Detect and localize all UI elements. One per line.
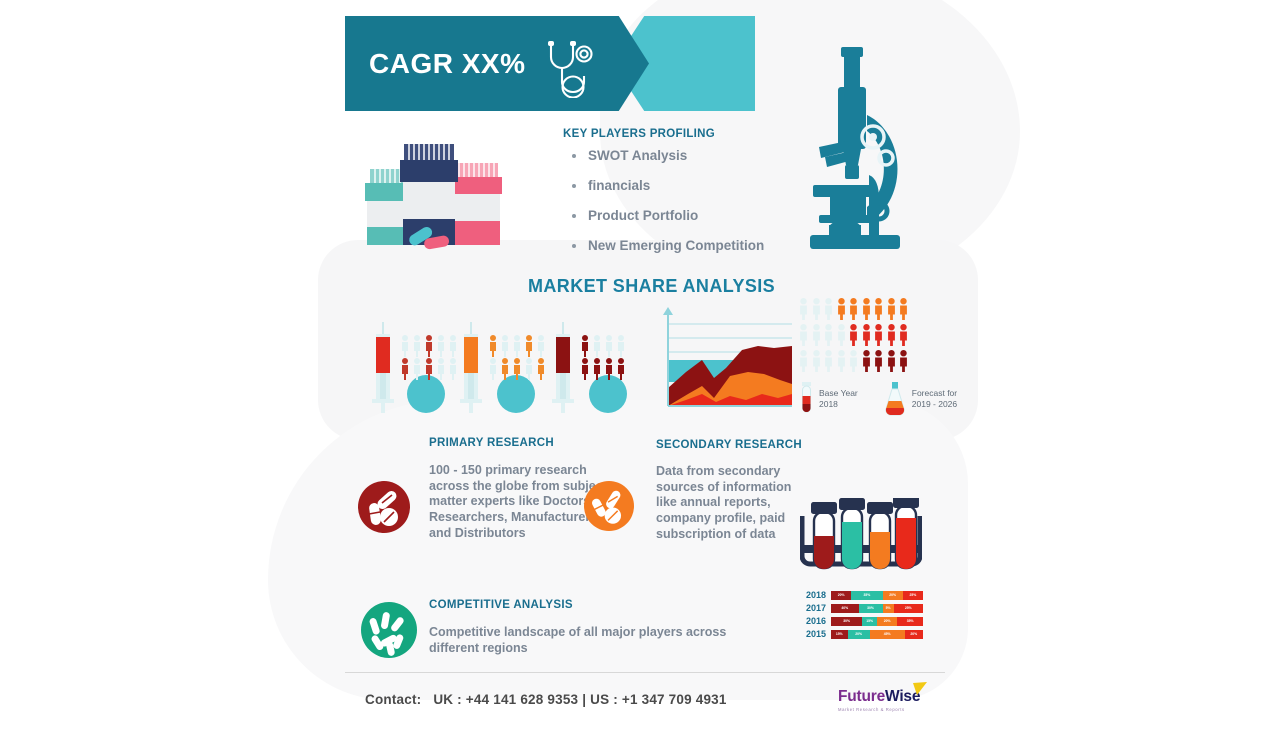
test-tube bbox=[893, 498, 919, 569]
person-icon bbox=[848, 324, 859, 346]
person-icon bbox=[798, 298, 809, 320]
person-icon bbox=[886, 298, 897, 320]
stacked-bar: 30% 15% 20% 35% bbox=[831, 617, 923, 626]
footer-divider bbox=[345, 672, 945, 673]
year-label: 2018 bbox=[800, 590, 826, 600]
primary-research-title: PRIMARY RESEARCH bbox=[429, 437, 609, 449]
secondary-research-block: SECONDARY RESEARCH Data from secondary s… bbox=[656, 439, 806, 542]
list-item: SWOT Analysis bbox=[566, 148, 764, 163]
syringe-group-2 bbox=[460, 322, 535, 413]
bar-segment: 20% bbox=[831, 591, 851, 600]
pill-bottles-illustration bbox=[356, 141, 511, 253]
person-icon bbox=[811, 298, 822, 320]
person-icon bbox=[873, 350, 884, 372]
person-icon bbox=[823, 324, 834, 346]
primary-research-block: PRIMARY RESEARCH 100 - 150 primary resea… bbox=[429, 437, 609, 541]
person-icon bbox=[873, 324, 884, 346]
person-icon bbox=[848, 298, 859, 320]
syringe-people-1 bbox=[402, 335, 456, 380]
person-icon bbox=[848, 350, 859, 372]
contact-label: Contact: bbox=[365, 692, 421, 707]
primary-research-body: 100 - 150 primary research across the gl… bbox=[429, 463, 609, 541]
bar-segment: 45% bbox=[870, 630, 905, 639]
table-row: 2015 15% 20% 45% 20% bbox=[800, 629, 923, 639]
person-icon bbox=[898, 350, 909, 372]
capsules-circle-icon bbox=[361, 602, 417, 658]
pills-circle-icon bbox=[358, 481, 410, 533]
bar-segment: 15% bbox=[831, 630, 848, 639]
bar-segment: 25% bbox=[903, 591, 923, 600]
person-icon bbox=[798, 350, 809, 372]
bar-segment: 20% bbox=[877, 617, 897, 626]
person-icon bbox=[861, 324, 872, 346]
table-row: 2017 40% 30% 5% 25% bbox=[800, 603, 923, 613]
person-icon bbox=[823, 298, 834, 320]
syringe-group-3 bbox=[552, 322, 627, 413]
stacked-bar: 40% 30% 5% 25% bbox=[831, 604, 923, 613]
bar-segment: 35% bbox=[851, 591, 882, 600]
pictogram-row bbox=[798, 324, 909, 346]
futurewise-logo[interactable]: FutureWise Market Research & Reports bbox=[838, 688, 920, 712]
cagr-label: CAGR XX% bbox=[369, 48, 525, 80]
chart-legend: Base Year 2018 Forecast for 2019 - 2026 bbox=[800, 382, 957, 416]
table-row: 2016 30% 15% 20% 35% bbox=[800, 616, 923, 626]
bar-segment: 30% bbox=[859, 604, 883, 613]
market-share-title: MARKET SHARE ANALYSIS bbox=[528, 276, 775, 297]
secondary-research-title: SECONDARY RESEARCH bbox=[656, 439, 806, 451]
list-item: financials bbox=[566, 178, 764, 193]
test-tube bbox=[811, 502, 837, 569]
key-players-title: KEY PLAYERS PROFILING bbox=[563, 128, 715, 140]
bar-segment: 25% bbox=[894, 604, 923, 613]
logo-text-future: Future bbox=[838, 688, 885, 705]
person-icon bbox=[811, 350, 822, 372]
logo-tagline: Market Research & Reports bbox=[838, 707, 920, 712]
syringe-people-3 bbox=[582, 335, 624, 380]
competitive-analysis-body: Competitive landscape of all major playe… bbox=[429, 625, 749, 656]
logo-swoosh-icon bbox=[912, 682, 928, 698]
pictogram-row bbox=[798, 298, 909, 320]
person-icon bbox=[836, 350, 847, 372]
stacked-bar: 20% 35% 20% 25% bbox=[831, 591, 923, 600]
bar-segment: 35% bbox=[897, 617, 923, 626]
test-tube-rack-illustration bbox=[800, 498, 922, 580]
people-pictogram-grid bbox=[798, 298, 909, 376]
syringe-people-2 bbox=[490, 335, 544, 380]
syringe-groups-illustration bbox=[362, 322, 630, 416]
stacked-bar: 15% 20% 45% 20% bbox=[831, 630, 923, 639]
person-icon bbox=[898, 298, 909, 320]
market-share-area-chart bbox=[652, 302, 798, 414]
person-icon bbox=[873, 298, 884, 320]
cagr-banner: CAGR XX% bbox=[345, 16, 755, 111]
person-icon bbox=[861, 298, 872, 320]
bar-segment: 30% bbox=[831, 617, 862, 626]
year-label: 2015 bbox=[800, 629, 826, 639]
syringe-group-1 bbox=[372, 322, 445, 413]
bar-segment: 20% bbox=[905, 630, 923, 639]
person-icon bbox=[823, 350, 834, 372]
legend-base-year: Base Year 2018 bbox=[819, 388, 858, 409]
secondary-research-body: Data from secondary sources of informati… bbox=[656, 464, 806, 542]
person-icon bbox=[811, 324, 822, 346]
person-icon bbox=[898, 324, 909, 346]
contact-info: Contact: UK : +44 141 628 9353 | US : +1… bbox=[365, 692, 727, 707]
year-share-bar-chart: 2018 20% 35% 20% 25% 2017 40% 30% 5% 25%… bbox=[800, 590, 923, 642]
legend-forecast: Forecast for 2019 - 2026 bbox=[912, 388, 957, 409]
person-icon bbox=[886, 350, 897, 372]
person-icon bbox=[861, 350, 872, 372]
bar-segment: 20% bbox=[883, 591, 903, 600]
infographic-canvas: CAGR XX% bbox=[0, 0, 1280, 731]
microscope-icon bbox=[805, 25, 945, 255]
chart-axis-arrow bbox=[663, 307, 673, 315]
bar-segment: 40% bbox=[831, 604, 859, 613]
bar-segment: 15% bbox=[862, 617, 877, 626]
bar-segment: 5% bbox=[883, 604, 894, 613]
year-label: 2017 bbox=[800, 603, 826, 613]
competitive-analysis-block: COMPETITIVE ANALYSIS Competitive landsca… bbox=[429, 599, 749, 656]
bar-segment: 20% bbox=[848, 630, 870, 639]
table-row: 2018 20% 35% 20% 25% bbox=[800, 590, 923, 600]
test-tube bbox=[867, 502, 893, 569]
pictogram-row bbox=[798, 350, 909, 372]
list-item: Product Portfolio bbox=[566, 208, 764, 223]
person-icon bbox=[836, 324, 847, 346]
contact-numbers: UK : +44 141 628 9353 | US : +1 347 709 … bbox=[433, 692, 726, 707]
test-tube bbox=[839, 498, 865, 569]
person-icon bbox=[836, 298, 847, 320]
list-item: New Emerging Competition bbox=[566, 238, 764, 253]
flask-icon bbox=[884, 382, 906, 416]
stethoscope-icon bbox=[541, 38, 603, 98]
pills-circle-icon bbox=[584, 481, 634, 531]
year-label: 2016 bbox=[800, 616, 826, 626]
person-icon bbox=[886, 324, 897, 346]
person-icon bbox=[798, 324, 809, 346]
test-tube-icon bbox=[800, 382, 813, 416]
competitive-analysis-title: COMPETITIVE ANALYSIS bbox=[429, 599, 749, 611]
key-players-list: SWOT Analysis financials Product Portfol… bbox=[566, 148, 764, 268]
